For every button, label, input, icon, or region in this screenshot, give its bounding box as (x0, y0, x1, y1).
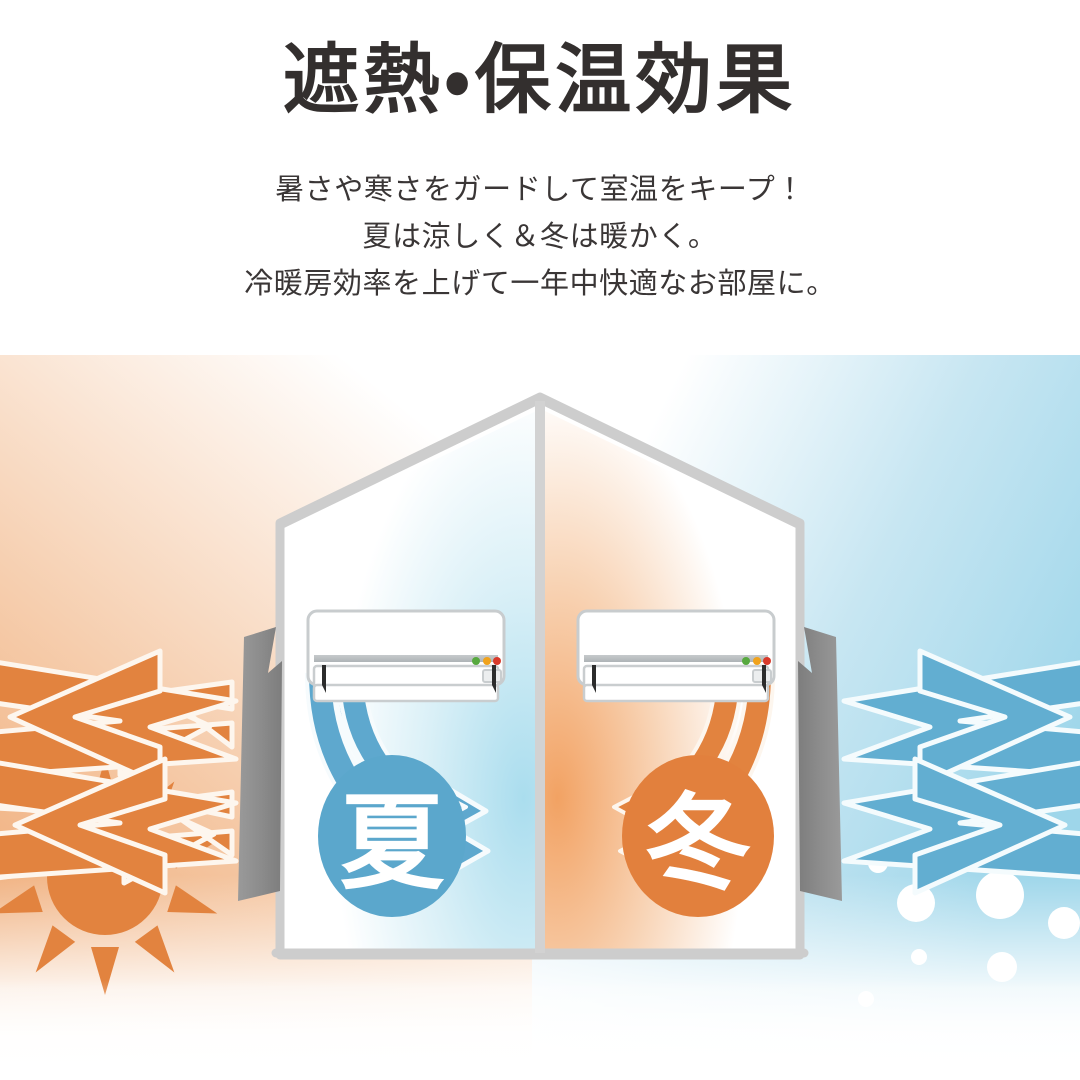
snow-dot (976, 871, 1024, 919)
bottom-fade-2 (0, 980, 1080, 1080)
subtitle-line-3: 冷暖房効率を上げて一年中快適なお部屋に。 (0, 260, 1080, 307)
snow-dot (911, 949, 927, 965)
snow-dot (1048, 907, 1080, 939)
subtitle-line-2: 夏は涼しく＆冬は暖かく。 (0, 213, 1080, 260)
house-center-divider (535, 401, 545, 953)
page-title: 遮熱・保温効果 (0, 42, 1080, 118)
scene-svg (0, 355, 1080, 1080)
header-block: 遮熱・保温効果 暑さや寒さをガードして室温をキープ！ 夏は涼しく＆冬は暖かく。 … (0, 0, 1080, 307)
badge-summer-label: 夏 (340, 758, 444, 909)
snow-dot (987, 952, 1017, 982)
badge-summer: 夏 (318, 755, 466, 917)
illustration-scene: 夏 冬 (0, 355, 1080, 1080)
air-conditioner-left (308, 611, 504, 701)
curtain-left (238, 627, 282, 901)
badge-winter-label: 冬 (646, 758, 750, 909)
subtitle-block: 暑さや寒さをガードして室温をキープ！ 夏は涼しく＆冬は暖かく。 冷暖房効率を上げ… (0, 166, 1080, 307)
air-conditioner-right (578, 611, 774, 701)
curtain-right (798, 627, 842, 901)
ac-led-indicators-left (472, 657, 501, 665)
ac-led-indicators-right (742, 657, 771, 665)
badge-winter: 冬 (622, 755, 774, 917)
subtitle-line-1: 暑さや寒さをガードして室温をキープ！ (0, 166, 1080, 213)
poster-canvas: 遮熱・保温効果 暑さや寒さをガードして室温をキープ！ 夏は涼しく＆冬は暖かく。 … (0, 0, 1080, 1080)
